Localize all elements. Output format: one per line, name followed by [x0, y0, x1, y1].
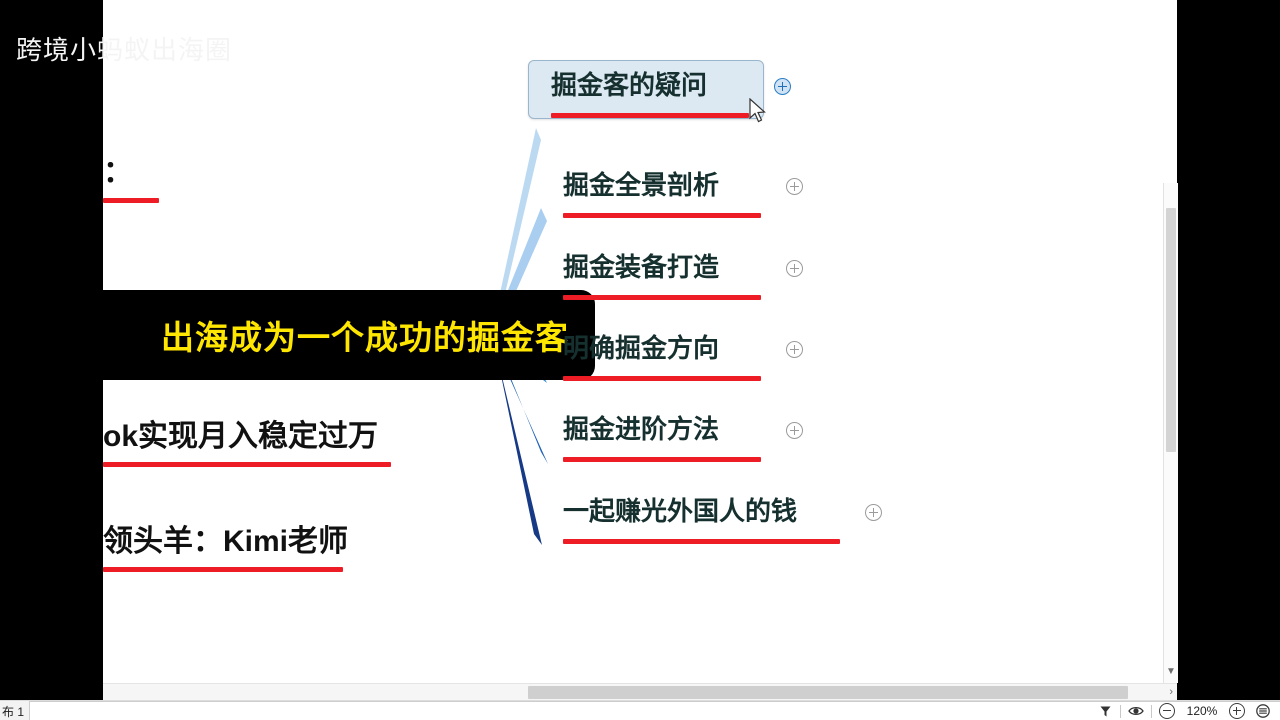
scroll-down-arrow[interactable]: ▼ — [1164, 665, 1178, 679]
zoom-in-icon[interactable] — [1224, 701, 1250, 720]
sheet-tab[interactable]: 布 1 — [0, 703, 28, 720]
plus-icon[interactable] — [786, 178, 803, 195]
branch-node-box[interactable]: 一起赚光外国人的钱 — [540, 486, 855, 545]
zoom-level-label[interactable]: 120% — [1180, 704, 1224, 718]
plus-icon[interactable] — [774, 78, 791, 95]
branch-node-underline — [563, 295, 761, 300]
vertical-scrollbar-thumb[interactable] — [1166, 208, 1176, 452]
branch-node-underline — [551, 113, 749, 118]
branch-node-5[interactable]: 掘金进阶方法 — [540, 404, 803, 463]
branch-node-box[interactable]: 掘金客的疑问 — [528, 60, 764, 119]
toolbar-divider — [1151, 705, 1152, 718]
left-topic-underline — [103, 567, 343, 572]
central-topic-label: 出海成为一个成功的掘金客 — [161, 311, 595, 359]
plus-icon[interactable] — [865, 504, 882, 521]
branch-node-underline — [563, 457, 761, 462]
watermark-light: 跨境小蚂蚁出海圈 — [16, 30, 232, 67]
left-topic-row[interactable]: 领头羊：Kimi老师 — [103, 527, 348, 572]
branch-node-label: 掘金客的疑问 — [551, 71, 749, 101]
toolbar-divider — [1120, 705, 1121, 718]
application-window: 跨境小蚂蚁出海圈 ： ok实现月入稳定过万 领头羊：Kimi老师 — [0, 0, 1280, 720]
horizontal-scrollbar-thumb[interactable] — [528, 686, 1128, 699]
zoom-out-icon[interactable] — [1154, 701, 1180, 720]
plus-icon[interactable] — [786, 260, 803, 277]
branch-node-label: 一起赚光外国人的钱 — [563, 497, 840, 527]
branch-node-box[interactable]: 掘金装备打造 — [540, 242, 776, 301]
branch-node-underline — [563, 376, 761, 381]
branch-node-4[interactable]: 明确掘金方向 — [540, 323, 803, 382]
branch-node-label: 明确掘金方向 — [563, 334, 761, 364]
left-topic-row[interactable]: ： — [103, 158, 159, 203]
zoom-in-glyph — [1229, 703, 1245, 719]
branch-node-underline — [563, 539, 840, 544]
left-topic-label: ： — [103, 158, 159, 188]
status-bar: 布 1 120% — [0, 700, 1280, 720]
left-topic-row[interactable]: ok实现月入稳定过万 — [103, 422, 391, 467]
branch-node-2[interactable]: 掘金全景剖析 — [540, 160, 803, 219]
branch-node-underline — [563, 213, 761, 218]
mouse-cursor — [748, 98, 768, 126]
horizontal-scrollbar[interactable]: › — [103, 683, 1177, 701]
filter-icon[interactable] — [1092, 701, 1118, 720]
left-topic-underline — [103, 198, 159, 203]
central-topic-node[interactable]: 出海成为一个成功的掘金客 — [103, 290, 595, 380]
scroll-right-arrow[interactable]: › — [1169, 685, 1173, 700]
branch-node-box[interactable]: 掘金进阶方法 — [540, 404, 776, 463]
branch-node-label: 掘金全景剖析 — [563, 171, 761, 201]
vertical-scrollbar[interactable]: ▼ — [1163, 183, 1178, 683]
branch-node-label: 掘金进阶方法 — [563, 415, 761, 445]
mindmap-canvas[interactable]: ： ok实现月入稳定过万 领头羊：Kimi老师 出海成为一个成功的掘金客 掘金客… — [103, 0, 1177, 683]
eye-icon[interactable] — [1123, 701, 1149, 720]
list-view-icon[interactable] — [1250, 701, 1276, 720]
left-topic-label: ok实现月入稳定过万 — [103, 422, 391, 452]
zoom-toolbar: 120% — [1092, 701, 1276, 720]
branch-node-3[interactable]: 掘金装备打造 — [540, 242, 803, 301]
branch-node-box[interactable]: 掘金全景剖析 — [540, 160, 776, 219]
left-topic-underline — [103, 462, 391, 467]
left-topic-label: 领头羊：Kimi老师 — [103, 527, 348, 557]
branch-node-label: 掘金装备打造 — [563, 253, 761, 283]
zoom-out-glyph — [1159, 703, 1175, 719]
plus-icon[interactable] — [786, 341, 803, 358]
plus-icon[interactable] — [786, 422, 803, 439]
branch-node-6[interactable]: 一起赚光外国人的钱 — [540, 486, 882, 545]
branch-node-box[interactable]: 明确掘金方向 — [540, 323, 776, 382]
